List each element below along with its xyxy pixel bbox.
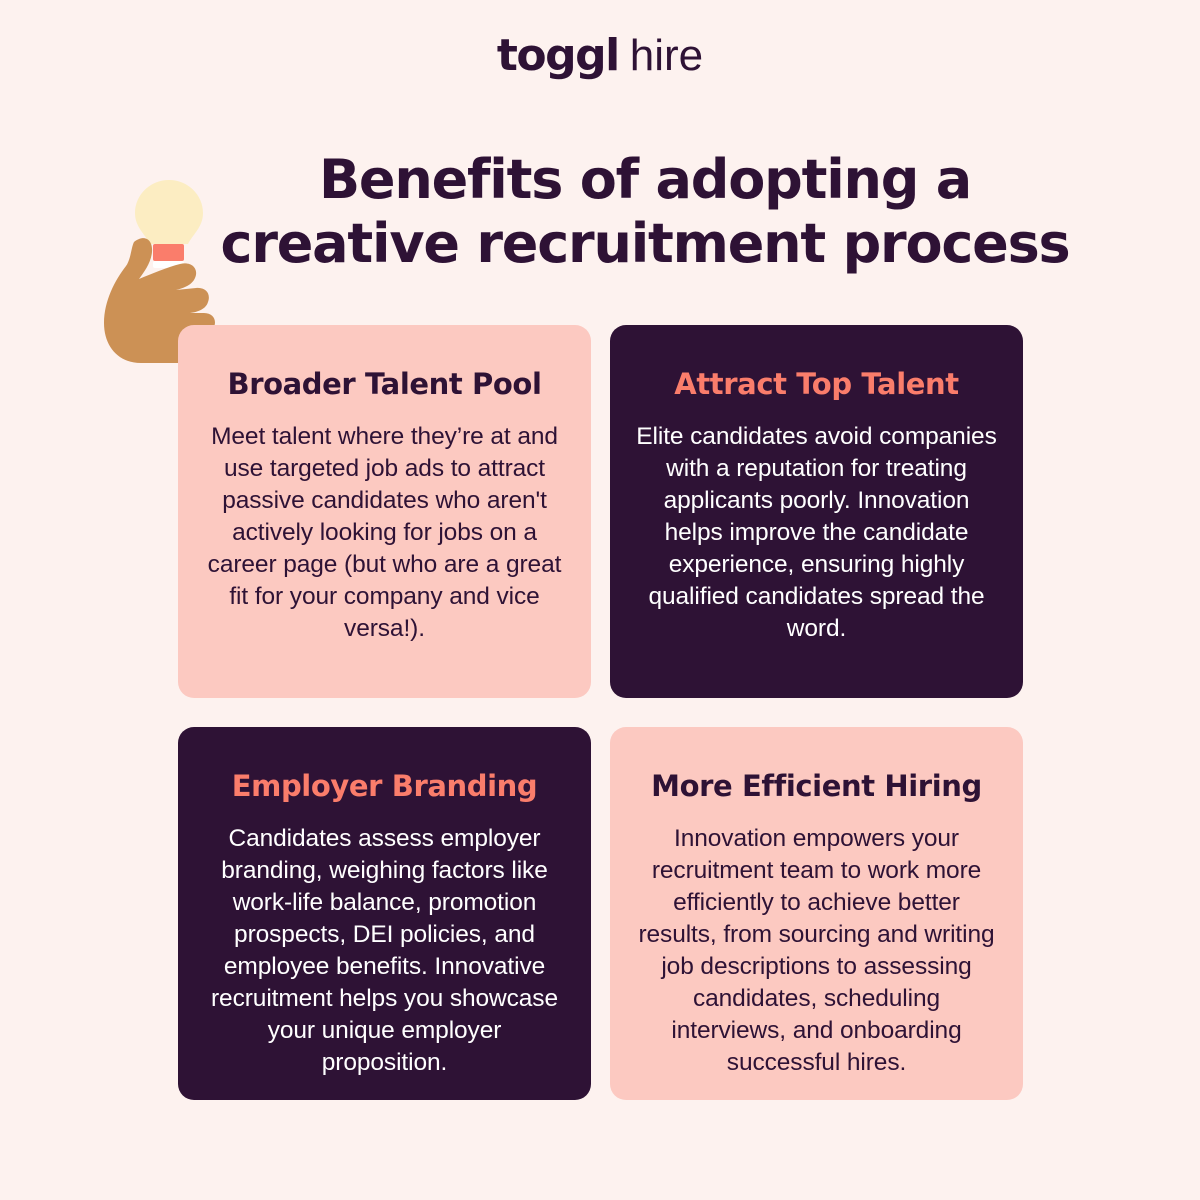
benefits-card-grid: Broader Talent Pool Meet talent where th…: [178, 325, 1023, 1100]
benefit-card-attract-top-talent: Attract Top Talent Elite candidates avoi…: [610, 325, 1023, 698]
card-title: Employer Branding: [204, 769, 565, 803]
page-title-line-1: Benefits of adopting a: [170, 148, 1120, 212]
page-title-line-2: creative recruitment process: [170, 212, 1120, 276]
benefit-card-broader-talent-pool: Broader Talent Pool Meet talent where th…: [178, 325, 591, 698]
brand-logo: togglhire: [0, 34, 1200, 78]
page-title: Benefits of adopting a creative recruitm…: [170, 148, 1120, 276]
logo-hire-wordmark: hire: [630, 31, 703, 80]
card-body: Candidates assess employer branding, wei…: [204, 823, 565, 1079]
card-body: Elite candidates avoid companies with a …: [636, 421, 997, 645]
logo-toggl-wordmark: toggl: [497, 30, 619, 81]
card-body: Innovation empowers your recruitment tea…: [636, 823, 997, 1079]
card-title: Attract Top Talent: [636, 367, 997, 401]
card-title: Broader Talent Pool: [204, 367, 565, 401]
benefit-card-more-efficient-hiring: More Efficient Hiring Innovation empower…: [610, 727, 1023, 1100]
benefit-card-employer-branding: Employer Branding Candidates assess empl…: [178, 727, 591, 1100]
card-title: More Efficient Hiring: [636, 769, 997, 803]
card-body: Meet talent where they’re at and use tar…: [204, 421, 565, 645]
